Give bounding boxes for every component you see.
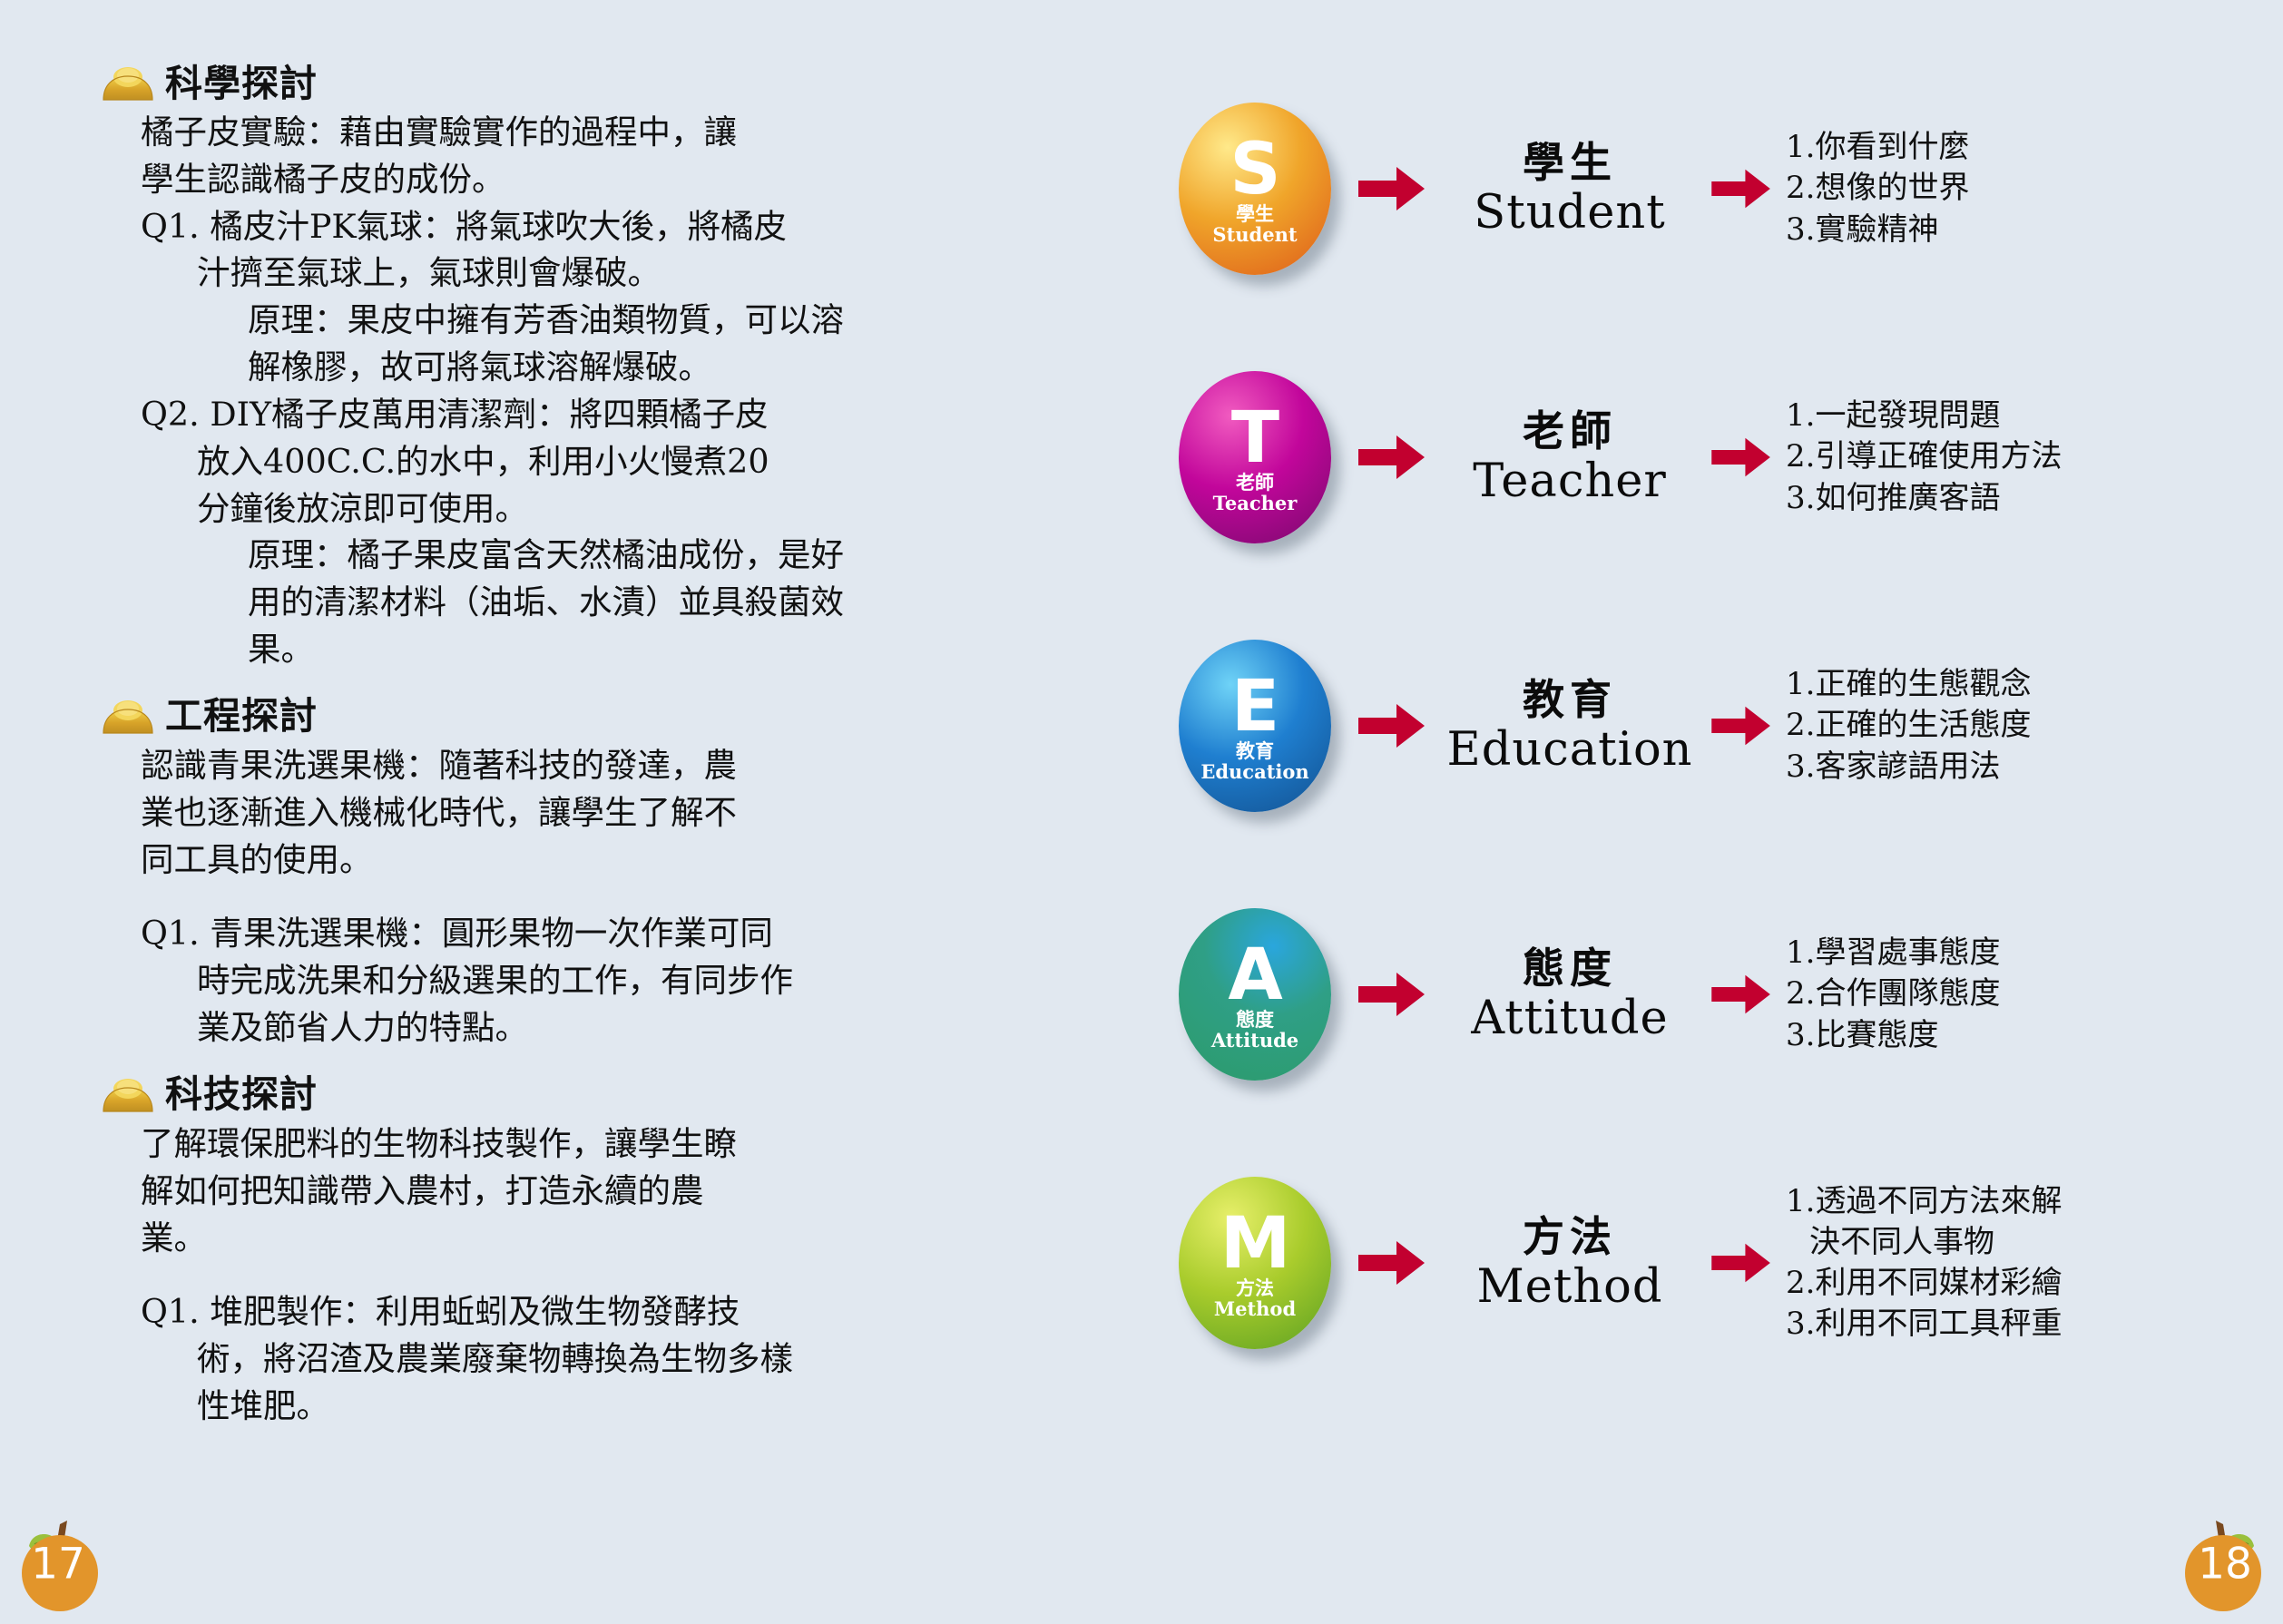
left-page: 科學探討 橘子皮實驗：藉由實驗實作的過程中，讓學生認識橘子皮的成份。 Q1. 橘…	[0, 0, 1141, 1624]
gold-ingot-icon	[100, 697, 156, 737]
page-number-value: 17	[4, 1542, 113, 1585]
section-title: 工程探討	[165, 698, 318, 735]
section-science: 科學探討 橘子皮實驗：藉由實驗實作的過程中，讓學生認識橘子皮的成份。 Q1. 橘…	[54, 64, 1087, 673]
steam-label-method: 方法 Method	[1434, 1213, 1706, 1313]
steam-row-method: M 方法 Method 方法 Method 1.透過不同方法來解 決不同人事物 …	[1141, 1129, 2283, 1397]
label-en: Method	[1434, 1261, 1706, 1313]
section-paragraph: 認識青果洗選果機：隨著科技的發達，農業也逐漸進入機械化時代，讓學生了解不同工具的…	[141, 742, 740, 883]
section-principle: 原理：橘子果皮富含天然橘油成份，是好用的清潔材料（油垢、水漬）並具殺菌效果。	[141, 532, 847, 672]
bullet-item: 3.如何推廣客語	[1786, 478, 2283, 519]
steam-badge-a[interactable]: A 態度 Attitude	[1179, 908, 1331, 1081]
badge-label-en: Method	[1214, 1298, 1296, 1319]
badge-label-zh: 老師	[1236, 473, 1274, 493]
steam-bullets-method: 1.透過不同方法來解 決不同人事物 2.利用不同媒材彩繪 3.利用不同工具秤重	[1777, 1181, 2283, 1345]
steam-badge-t[interactable]: T 老師 Teacher	[1179, 371, 1331, 543]
badge-container: M 方法 Method	[1160, 1177, 1350, 1349]
badge-label-en: Attitude	[1211, 1030, 1298, 1051]
steam-bullets-teacher: 1.一起發現問題 2.引導正確使用方法 3.如何推廣客語	[1777, 396, 2283, 519]
badge-label-zh: 態度	[1236, 1010, 1274, 1030]
arrow-right-icon	[1350, 434, 1434, 481]
steam-label-teacher: 老師 Teacher	[1434, 407, 1706, 507]
label-en: Attitude	[1434, 993, 1706, 1044]
arrow-right-icon	[1350, 1239, 1434, 1286]
bullet-item: 1.一起發現問題	[1786, 396, 2283, 436]
steam-bullets-education: 1.正確的生態觀念 2.正確的生活態度 3.客家諺語用法	[1777, 664, 2283, 788]
arrow-right-icon	[1350, 702, 1434, 749]
steam-row-education: E 教育 Education 教育 Education 1.正確的生態觀念 2.…	[1141, 592, 2283, 860]
label-zh: 態度	[1434, 944, 1706, 993]
arrow-right-icon	[1350, 971, 1434, 1018]
bullet-item: 2.想像的世界	[1786, 168, 2283, 209]
label-zh: 學生	[1434, 139, 1706, 187]
badge-label-zh: 方法	[1236, 1278, 1274, 1298]
badge-container: S 學生 Student	[1160, 103, 1350, 275]
bullet-item: 2.合作團隊態度	[1786, 973, 2283, 1014]
section-principle: 原理：果皮中擁有芳香油類物質，可以溶解橡膠，故可將氣球溶解爆破。	[141, 297, 847, 391]
arrow-right-icon	[1706, 973, 1777, 1015]
label-zh: 教育	[1434, 676, 1706, 724]
steam-badge-m[interactable]: M 方法 Method	[1179, 1177, 1331, 1349]
bullet-item: 3.利用不同工具秤重	[1786, 1304, 2283, 1345]
badge-letter: T	[1231, 406, 1279, 472]
steam-label-education: 教育 Education	[1434, 676, 1706, 776]
bullet-item: 2.利用不同媒材彩繪	[1786, 1263, 2283, 1304]
bullet-item: 1.學習處事態度	[1786, 933, 2283, 973]
section-question: Q1. 青果洗選果機：圓形果物一次作業可同時完成洗果和分級選果的工作，有同步作業…	[141, 910, 796, 1051]
steam-row-teacher: T 老師 Teacher 老師 Teacher 1.一起發現問題 2.引導正確使…	[1141, 323, 2283, 592]
gold-ingot-icon	[100, 64, 156, 103]
section-paragraph: 了解環保肥料的生物科技製作，讓學生瞭解如何把知識帶入農村，打造永續的農業。	[141, 1120, 740, 1261]
bullet-item: 2.正確的生活態度	[1786, 705, 2283, 746]
bullet-item: 1.透過不同方法來解	[1786, 1181, 2283, 1222]
bullet-item: 3.比賽態度	[1786, 1015, 2283, 1056]
steam-badge-s[interactable]: S 學生 Student	[1179, 103, 1331, 275]
arrow-right-icon	[1706, 705, 1777, 747]
page-number-right: 18	[2170, 1508, 2279, 1617]
spread: 科學探討 橘子皮實驗：藉由實驗實作的過程中，讓學生認識橘子皮的成份。 Q1. 橘…	[0, 0, 2283, 1624]
steam-row-student: S 學生 Student 學生 Student 1.你看到什麼 2.想像的世界 …	[1141, 54, 2283, 323]
page-number-left: 17	[4, 1508, 113, 1617]
steam-label-attitude: 態度 Attitude	[1434, 944, 1706, 1044]
section-question: Q1. 堆肥製作：利用蚯蚓及微生物發酵技術，將沼渣及農業廢棄物轉換為生物多樣性堆…	[141, 1288, 796, 1429]
bullet-item: 1.你看到什麼	[1786, 127, 2283, 168]
arrow-right-icon	[1706, 436, 1777, 478]
gold-ingot-icon	[100, 1075, 156, 1115]
label-en: Teacher	[1434, 455, 1706, 507]
steam-bullets-attitude: 1.學習處事態度 2.合作團隊態度 3.比賽態度	[1777, 933, 2283, 1056]
steam-row-attitude: A 態度 Attitude 態度 Attitude 1.學習處事態度 2.合作團…	[1141, 860, 2283, 1129]
steam-label-student: 學生 Student	[1434, 139, 1706, 239]
steam-bullets-student: 1.你看到什麼 2.想像的世界 3.實驗精神	[1777, 127, 2283, 250]
badge-letter: S	[1230, 138, 1279, 203]
badge-letter: A	[1228, 944, 1281, 1009]
label-en: Education	[1434, 724, 1706, 776]
badge-letter: E	[1231, 675, 1279, 740]
badge-container: T 老師 Teacher	[1160, 371, 1350, 543]
arrow-right-icon	[1706, 1242, 1777, 1284]
steam-badge-e[interactable]: E 教育 Education	[1179, 640, 1331, 812]
badge-label-zh: 教育	[1236, 741, 1274, 761]
section-paragraph: 橘子皮實驗：藉由實驗實作的過程中，讓學生認識橘子皮的成份。	[141, 109, 740, 203]
right-page: S 學生 Student 學生 Student 1.你看到什麼 2.想像的世界 …	[1141, 0, 2283, 1624]
section-header: 科技探討	[100, 1075, 1087, 1115]
arrow-right-icon	[1706, 168, 1777, 210]
section-question: Q1. 橘皮汁PK氣球：將氣球吹大後，將橘皮汁擠至氣球上，氣球則會爆破。	[141, 203, 796, 298]
label-zh: 老師	[1434, 407, 1706, 455]
section-technology: 科技探討 了解環保肥料的生物科技製作，讓學生瞭解如何把知識帶入農村，打造永續的農…	[54, 1075, 1087, 1430]
section-question: Q2. DIY橘子皮萬用清潔劑：將四顆橘子皮放入400C.C.的水中，利用小火慢…	[141, 391, 796, 532]
page-number-value: 18	[2170, 1542, 2279, 1585]
badge-container: E 教育 Education	[1160, 640, 1350, 812]
badge-label-zh: 學生	[1236, 204, 1274, 224]
section-title: 科學探討	[165, 65, 318, 103]
badge-letter: M	[1220, 1212, 1290, 1277]
section-engineering: 工程探討 認識青果洗選果機：隨著科技的發達，農業也逐漸進入機械化時代，讓學生了解…	[54, 697, 1087, 1052]
section-title: 科技探討	[165, 1076, 318, 1113]
bullet-item: 2.引導正確使用方法	[1786, 436, 2283, 477]
arrow-right-icon	[1350, 165, 1434, 212]
bullet-item: 3.實驗精神	[1786, 210, 2283, 250]
badge-label-en: Education	[1200, 761, 1308, 782]
bullet-item: 3.客家諺語用法	[1786, 747, 2283, 788]
bullet-item: 1.正確的生態觀念	[1786, 664, 2283, 705]
badge-label-en: Student	[1212, 224, 1297, 245]
label-zh: 方法	[1434, 1213, 1706, 1261]
badge-container: A 態度 Attitude	[1160, 908, 1350, 1081]
badge-label-en: Teacher	[1213, 493, 1298, 514]
section-header: 工程探討	[100, 697, 1087, 737]
label-en: Student	[1434, 187, 1706, 239]
bullet-item-continuation: 決不同人事物	[1786, 1222, 2283, 1263]
section-header: 科學探討	[100, 64, 1087, 103]
